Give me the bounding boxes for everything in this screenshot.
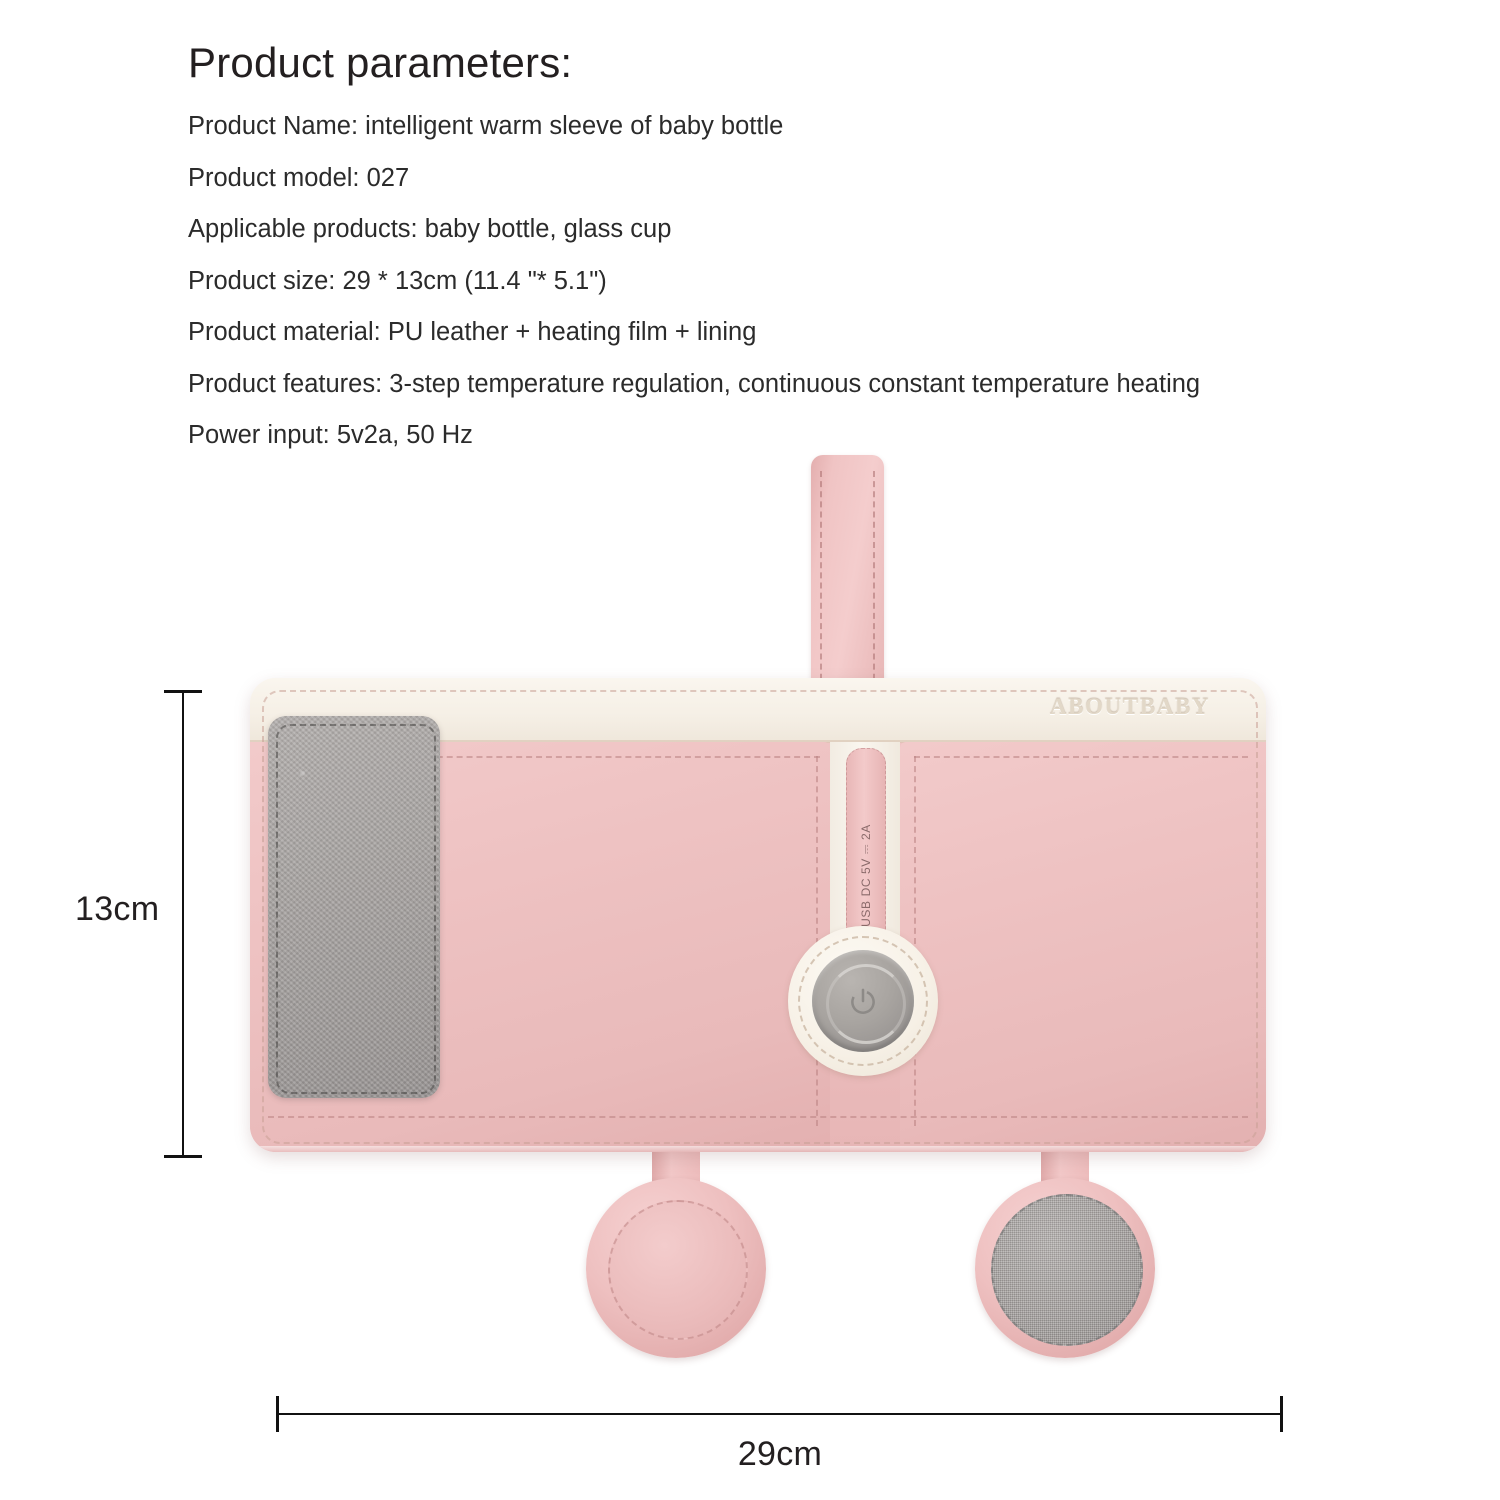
- bottom-tab-left: [586, 1130, 766, 1360]
- pocket-stitch-top-right: [914, 756, 1248, 758]
- velcro-strip-left: [268, 716, 440, 1098]
- tab-round-pink: [586, 1178, 766, 1358]
- velcro-circle-patch: [991, 1194, 1143, 1346]
- body-bottom-edge: [250, 1146, 1266, 1152]
- pocket-stitch-side-right: [914, 756, 916, 1126]
- width-label-text: 29cm: [738, 1435, 822, 1473]
- bottom-tab-right: [975, 1130, 1155, 1360]
- pink-pocket-right: [900, 742, 1266, 1152]
- pocket-stitch-bottom: [268, 1116, 1248, 1118]
- power-button-bezel: [788, 926, 938, 1076]
- height-label: 13cm: [75, 890, 159, 929]
- height-dimension-line: [182, 690, 184, 1158]
- power-icon: [846, 984, 880, 1018]
- height-cap-top: [164, 690, 202, 693]
- usb-rating-text: USB DC 5V ⎓ 2A: [859, 824, 874, 927]
- brand-logo: ABOUTBABY: [1050, 694, 1210, 720]
- width-cap-right: [1280, 1396, 1283, 1432]
- velcro-stitch: [276, 724, 436, 1094]
- power-button[interactable]: [812, 950, 914, 1052]
- height-cap-bottom: [164, 1155, 202, 1158]
- width-cap-left: [276, 1396, 279, 1432]
- tab-inner-circle: [608, 1200, 748, 1340]
- product-photo: ABOUTBABY USB DC 5V ⎓ 2A: [0, 0, 1500, 1500]
- tab-round-velcro: [975, 1178, 1155, 1358]
- width-label: 29cm: [0, 1435, 1500, 1474]
- width-dimension-line: [276, 1413, 1283, 1415]
